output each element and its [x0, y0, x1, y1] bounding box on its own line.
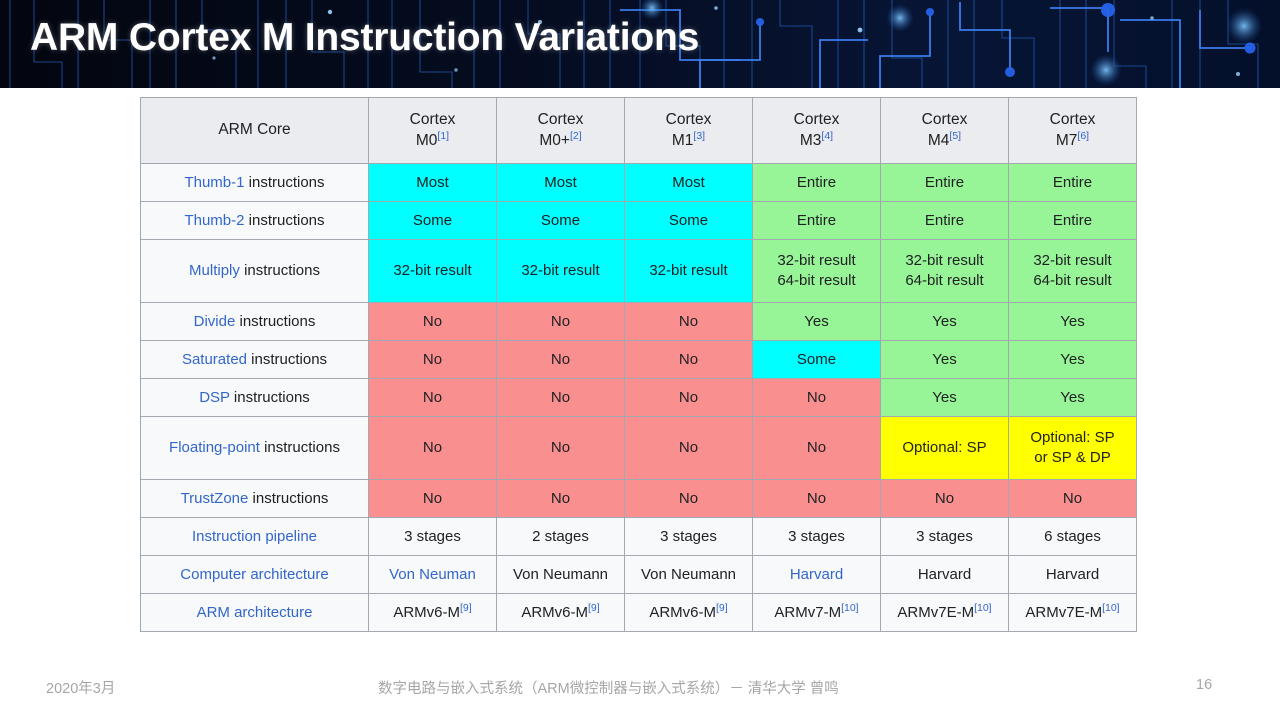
table-cell: No: [497, 480, 625, 518]
reference-marker[interactable]: [9]: [588, 602, 600, 614]
cell-value: ARMv6-M: [521, 604, 588, 621]
table-cell: No: [497, 417, 625, 480]
column-header-line1: Cortex: [666, 111, 712, 128]
cell-value: No: [807, 490, 826, 507]
table-cell: ARMv6-M[9]: [625, 594, 753, 632]
row-label: TrustZone instructions: [141, 480, 369, 518]
table-cell: Harvard: [881, 556, 1009, 594]
row-label-rest: instructions: [244, 174, 324, 191]
cell-line-1: 32-bit result: [759, 251, 874, 271]
table-row: Thumb-2 instructionsSomeSomeSomeEntireEn…: [141, 202, 1137, 240]
table-cell: Optional: SPor SP & DP: [1009, 417, 1137, 480]
cell-value: Entire: [1053, 174, 1092, 191]
table-cell: Von Neumann: [497, 556, 625, 594]
table-cell: ARMv6-M[9]: [497, 594, 625, 632]
table-cell: ARMv7E-M[10]: [881, 594, 1009, 632]
cell-value: 32-bit result: [521, 262, 599, 279]
cell-value: Optional: SP: [902, 439, 986, 456]
table-cell: Yes: [881, 303, 1009, 341]
column-header-m0: Cortex M0[1]: [369, 98, 497, 164]
cell-line-1: 32-bit result: [1015, 251, 1130, 271]
table-cell: 32-bit result: [625, 240, 753, 303]
reference-marker[interactable]: [2]: [570, 129, 582, 141]
table-cell: Most: [369, 164, 497, 202]
row-label-rest: instructions: [260, 439, 340, 456]
cell-line-2: 64-bit result: [887, 271, 1002, 291]
table-cell: No: [753, 379, 881, 417]
table-cell: No: [625, 417, 753, 480]
cell-value: Yes: [932, 389, 956, 406]
table-cell: Entire: [753, 164, 881, 202]
table-cell: No: [625, 303, 753, 341]
row-label-link[interactable]: Divide: [194, 313, 236, 330]
cell-value: Some: [669, 212, 708, 229]
column-header-line2: M1: [672, 132, 694, 149]
cell-value: Yes: [932, 351, 956, 368]
cell-value: Von Neumann: [641, 566, 736, 583]
cell-value: No: [679, 389, 698, 406]
table-cell: 32-bit result: [497, 240, 625, 303]
table-cell: No: [369, 341, 497, 379]
table-row: DSP instructionsNoNoNoNoYesYes: [141, 379, 1137, 417]
row-label-link[interactable]: Multiply: [189, 262, 240, 279]
row-label-link[interactable]: Instruction pipeline: [192, 528, 317, 545]
slide: ARM Cortex M Instruction Variations ARM …: [0, 0, 1280, 720]
cell-value: 32-bit result: [393, 262, 471, 279]
row-label-link[interactable]: Saturated: [182, 351, 247, 368]
cell-value: 32-bit result: [649, 262, 727, 279]
row-label-rest: instructions: [248, 490, 328, 507]
row-label: ARM architecture: [141, 594, 369, 632]
footer-date: 2020年3月: [46, 677, 115, 698]
row-label-link[interactable]: Thumb-2: [184, 212, 244, 229]
cell-value: No: [551, 490, 570, 507]
table-cell: Yes: [881, 379, 1009, 417]
table-row: Instruction pipeline3 stages2 stages3 st…: [141, 518, 1137, 556]
table-row: TrustZone instructionsNoNoNoNoNoNo: [141, 480, 1137, 518]
table-cell: No: [1009, 480, 1137, 518]
column-header-line1: Cortex: [410, 111, 456, 128]
reference-marker[interactable]: [1]: [437, 129, 449, 141]
table-cell: No: [497, 379, 625, 417]
slide-footer: 2020年3月 数字电路与嵌入式系统（ARM微控制器与嵌入式系统）－ 清华大学 …: [0, 672, 1280, 704]
table-cell: Entire: [881, 202, 1009, 240]
table-cell: Yes: [881, 341, 1009, 379]
cell-line-2: 64-bit result: [1015, 271, 1130, 291]
column-header-m7: Cortex M7[6]: [1009, 98, 1137, 164]
table-cell: No: [497, 341, 625, 379]
table-cell: Yes: [1009, 303, 1137, 341]
cell-value: No: [679, 351, 698, 368]
cell-value: No: [423, 490, 442, 507]
footer-page-number: 16: [1196, 677, 1212, 693]
cell-value: No: [423, 389, 442, 406]
table-cell: Yes: [1009, 341, 1137, 379]
reference-marker[interactable]: [10]: [974, 602, 992, 614]
row-label: Multiply instructions: [141, 240, 369, 303]
row-label: DSP instructions: [141, 379, 369, 417]
cell-value: Entire: [797, 212, 836, 229]
table-cell: 3 stages: [881, 518, 1009, 556]
column-header-m0plus: Cortex M0+[2]: [497, 98, 625, 164]
cell-value[interactable]: Von Neuman: [389, 566, 476, 583]
row-label-rest: instructions: [235, 313, 315, 330]
row-label-rest: instructions: [247, 351, 327, 368]
cell-value: Some: [541, 212, 580, 229]
cell-value: Von Neumann: [513, 566, 608, 583]
cell-value[interactable]: Harvard: [790, 566, 843, 583]
table-cell: 3 stages: [753, 518, 881, 556]
cell-value: No: [807, 439, 826, 456]
cell-value: No: [679, 313, 698, 330]
column-header-line2: M0+: [539, 132, 570, 149]
table-cell: No: [369, 417, 497, 480]
cell-value: ARMv7E-M: [897, 604, 974, 621]
cell-value: No: [551, 313, 570, 330]
cell-value: No: [551, 351, 570, 368]
table-header-row: ARM Core Cortex M0[1] Cortex M0+[2] Cort…: [141, 98, 1137, 164]
cell-value: 3 stages: [660, 528, 717, 545]
table-cell: 32-bit result: [369, 240, 497, 303]
reference-marker[interactable]: [6]: [1077, 129, 1089, 141]
cell-value: Most: [416, 174, 449, 191]
table-cell: Harvard: [753, 556, 881, 594]
cell-value: Most: [672, 174, 705, 191]
table-cell: No: [497, 303, 625, 341]
cell-line-2: 64-bit result: [759, 271, 874, 291]
table-body: Thumb-1 instructionsMostMostMostEntireEn…: [141, 164, 1137, 632]
reference-marker[interactable]: [10]: [841, 602, 859, 614]
reference-marker[interactable]: [9]: [460, 602, 472, 614]
column-header-line2: M4: [928, 132, 950, 149]
table-cell: 3 stages: [369, 518, 497, 556]
footer-course-info: 数字电路与嵌入式系统（ARM微控制器与嵌入式系统）－ 清华大学 曾鸣: [378, 677, 839, 698]
table-row: Multiply instructions32-bit result32-bit…: [141, 240, 1137, 303]
row-label: Saturated instructions: [141, 341, 369, 379]
column-header-m1: Cortex M1[3]: [625, 98, 753, 164]
table-cell: 32-bit result64-bit result: [1009, 240, 1137, 303]
cell-value: Yes: [1060, 313, 1084, 330]
table-cell: ARMv7E-M[10]: [1009, 594, 1137, 632]
table-row: Computer architectureVon NeumanVon Neuma…: [141, 556, 1137, 594]
table-cell: No: [625, 341, 753, 379]
cell-value: No: [679, 490, 698, 507]
cell-value: ARMv7E-M: [1025, 604, 1102, 621]
table-cell: No: [369, 379, 497, 417]
table-cell: Entire: [1009, 202, 1137, 240]
table-cell: 3 stages: [625, 518, 753, 556]
table-cell: Some: [497, 202, 625, 240]
reference-marker[interactable]: [3]: [693, 129, 705, 141]
cell-value: Harvard: [918, 566, 971, 583]
cell-value: Harvard: [1046, 566, 1099, 583]
table-cell: Some: [625, 202, 753, 240]
table-cell: Von Neuman: [369, 556, 497, 594]
table-cell: ARMv7-M[10]: [753, 594, 881, 632]
row-label: Thumb-2 instructions: [141, 202, 369, 240]
cell-value: No: [807, 389, 826, 406]
table-cell: Von Neumann: [625, 556, 753, 594]
row-label-rest: instructions: [240, 262, 320, 279]
page-title: ARM Cortex M Instruction Variations: [30, 16, 699, 60]
reference-marker[interactable]: [5]: [949, 129, 961, 141]
row-label: Instruction pipeline: [141, 518, 369, 556]
row-label: Computer architecture: [141, 556, 369, 594]
table-cell: Entire: [753, 202, 881, 240]
arm-cortex-comparison-table: ARM Core Cortex M0[1] Cortex M0+[2] Cort…: [140, 97, 1137, 632]
cell-value: Entire: [925, 174, 964, 191]
row-label-link[interactable]: Computer architecture: [180, 566, 328, 583]
row-label-rest: instructions: [244, 212, 324, 229]
table-cell: Harvard: [1009, 556, 1137, 594]
table-row: Divide instructionsNoNoNoYesYesYes: [141, 303, 1137, 341]
title-banner: ARM Cortex M Instruction Variations: [0, 0, 1280, 88]
table-cell: Yes: [753, 303, 881, 341]
column-header-line1: Cortex: [1050, 111, 1096, 128]
cell-value: Yes: [1060, 389, 1084, 406]
table-cell: Some: [753, 341, 881, 379]
table-cell: Most: [625, 164, 753, 202]
table-cell: Most: [497, 164, 625, 202]
table-row: Thumb-1 instructionsMostMostMostEntireEn…: [141, 164, 1137, 202]
comparison-table-container: ARM Core Cortex M0[1] Cortex M0+[2] Cort…: [140, 97, 1137, 632]
reference-marker[interactable]: [9]: [716, 602, 728, 614]
cell-value: ARMv7-M: [774, 604, 841, 621]
column-header-line1: Cortex: [794, 111, 840, 128]
column-header-line2: M7: [1056, 132, 1078, 149]
table-cell: No: [753, 480, 881, 518]
cell-line-1: 32-bit result: [887, 251, 1002, 271]
cell-value: No: [423, 351, 442, 368]
cell-value: Entire: [925, 212, 964, 229]
cell-value: 3 stages: [404, 528, 461, 545]
cell-value: Entire: [797, 174, 836, 191]
cell-value: Yes: [1060, 351, 1084, 368]
cell-value: No: [679, 439, 698, 456]
cell-value: No: [423, 313, 442, 330]
cell-value: Some: [413, 212, 452, 229]
cell-value: No: [1063, 490, 1082, 507]
row-label-link[interactable]: Floating-point: [169, 439, 260, 456]
row-label: Divide instructions: [141, 303, 369, 341]
table-row: ARM architectureARMv6-M[9]ARMv6-M[9]ARMv…: [141, 594, 1137, 632]
cell-value: 2 stages: [532, 528, 589, 545]
table-cell: 32-bit result64-bit result: [881, 240, 1009, 303]
cell-value: Yes: [804, 313, 828, 330]
corner-label: ARM Core: [218, 121, 290, 138]
row-label-link[interactable]: TrustZone: [181, 490, 249, 507]
reference-marker[interactable]: [10]: [1102, 602, 1120, 614]
table-cell: No: [369, 303, 497, 341]
table-cell: 6 stages: [1009, 518, 1137, 556]
row-label: Thumb-1 instructions: [141, 164, 369, 202]
table-cell: Optional: SP: [881, 417, 1009, 480]
table-cell: 32-bit result64-bit result: [753, 240, 881, 303]
table-cell: 2 stages: [497, 518, 625, 556]
row-label-link[interactable]: Thumb-1: [184, 174, 244, 191]
table-row: Floating-point instructionsNoNoNoNoOptio…: [141, 417, 1137, 480]
cell-value: ARMv6-M: [649, 604, 716, 621]
cell-value: ARMv6-M: [393, 604, 460, 621]
table-cell: ARMv6-M[9]: [369, 594, 497, 632]
cell-value: No: [935, 490, 954, 507]
cell-line-1: Optional: SP: [1015, 428, 1130, 448]
column-header-line1: Cortex: [922, 111, 968, 128]
cell-value: No: [423, 439, 442, 456]
table-cell: Some: [369, 202, 497, 240]
cell-value: Some: [797, 351, 836, 368]
table-cell: No: [625, 379, 753, 417]
column-header-line2: M3: [800, 132, 822, 149]
table-cell: No: [881, 480, 1009, 518]
cell-value: No: [551, 389, 570, 406]
row-label-rest: instructions: [230, 389, 310, 406]
table-cell: No: [369, 480, 497, 518]
row-label-link[interactable]: ARM architecture: [197, 604, 313, 621]
cell-value: 3 stages: [916, 528, 973, 545]
cell-value: No: [551, 439, 570, 456]
table-cell: No: [753, 417, 881, 480]
table-cell: No: [625, 480, 753, 518]
cell-value: Entire: [1053, 212, 1092, 229]
table-cell: Yes: [1009, 379, 1137, 417]
reference-marker[interactable]: [4]: [821, 129, 833, 141]
table-cell: Entire: [1009, 164, 1137, 202]
cell-value: Most: [544, 174, 577, 191]
table-header: ARM Core Cortex M0[1] Cortex M0+[2] Cort…: [141, 98, 1137, 164]
column-header-line1: Cortex: [538, 111, 584, 128]
table-cell: Entire: [881, 164, 1009, 202]
row-label-link[interactable]: DSP: [199, 389, 230, 406]
row-label: Floating-point instructions: [141, 417, 369, 480]
cell-value: 3 stages: [788, 528, 845, 545]
cell-value: Yes: [932, 313, 956, 330]
column-header-m4: Cortex M4[5]: [881, 98, 1009, 164]
cell-line-2: or SP & DP: [1015, 448, 1130, 468]
cell-value: 6 stages: [1044, 528, 1101, 545]
table-corner-header: ARM Core: [141, 98, 369, 164]
table-row: Saturated instructionsNoNoNoSomeYesYes: [141, 341, 1137, 379]
column-header-m3: Cortex M3[4]: [753, 98, 881, 164]
column-header-line2: M0: [416, 132, 438, 149]
